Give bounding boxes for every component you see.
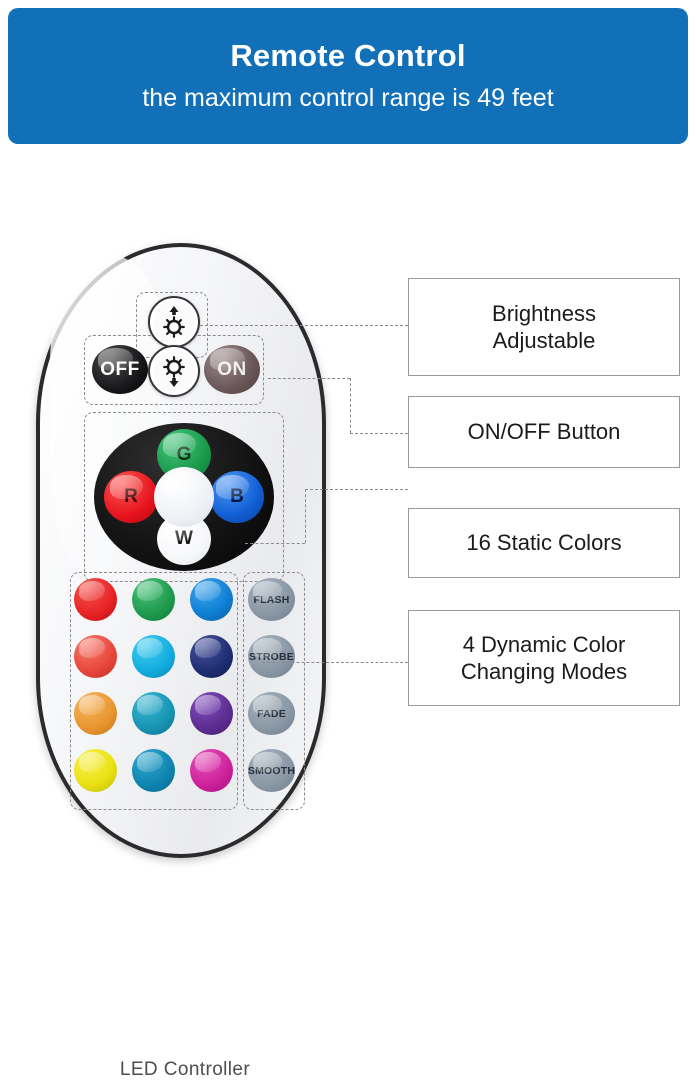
connector-onoff-h1 [268,378,350,379]
callout-static-line1: 16 Static Colors [466,529,621,557]
brightness-down-button[interactable] [148,345,200,397]
blue-button[interactable]: B [210,471,264,523]
connector-static-h2 [305,489,408,490]
off-button-label: OFF [100,359,140,381]
strobe-mode-label: STROBE [249,651,294,663]
smooth-mode-button[interactable]: SMOOTH [248,749,295,792]
color-button-blue[interactable] [190,578,233,621]
connector-dynamic [262,662,408,663]
color-button-purple[interactable] [190,692,233,735]
callout-dynamic-line1: 4 Dynamic Color [461,631,627,659]
white-button-label: W [175,528,193,550]
color-button-dark-cyan[interactable] [132,749,175,792]
sun-up-icon [157,303,191,341]
red-button[interactable]: R [104,471,158,523]
smooth-mode-label: SMOOTH [248,765,295,777]
rgb-color-wheel: G R B W [94,423,274,571]
connector-brightness [200,325,408,326]
color-button-magenta[interactable] [190,749,233,792]
callout-onoff-line1: ON/OFF Button [468,418,621,446]
center-power-button[interactable] [154,467,214,527]
callout-brightness: Brightness Adjustable [408,278,680,376]
color-button-green[interactable] [132,578,175,621]
color-button-red[interactable] [74,578,117,621]
color-button-cyan[interactable] [132,635,175,678]
connector-static-v [305,489,306,543]
callout-static-colors: 16 Static Colors [408,508,680,578]
blue-button-label: B [230,486,244,508]
color-button-navy[interactable] [190,635,233,678]
green-button-label: G [177,444,192,466]
color-button-yellow[interactable] [74,749,117,792]
callout-brightness-line1: Brightness [492,300,596,328]
banner-title: Remote Control [230,39,465,73]
callout-dynamic-line2: Changing Modes [461,658,627,686]
fade-mode-label: FADE [257,708,286,720]
static-color-grid [74,578,234,804]
led-controller-brand-label: LED Controller [40,1059,330,1081]
connector-static-h1 [245,543,305,544]
callout-brightness-line2: Adjustable [492,327,596,355]
color-button-teal[interactable] [132,692,175,735]
flash-mode-button[interactable]: FLASH [248,578,295,621]
callout-onoff: ON/OFF Button [408,396,680,468]
brightness-up-button[interactable] [148,296,200,348]
connector-onoff-h2 [350,433,408,434]
header-banner: Remote Control the maximum control range… [8,8,688,144]
color-button-orange-red[interactable] [74,635,117,678]
sun-down-icon [157,352,191,390]
banner-subtitle: the maximum control range is 49 feet [142,85,553,113]
callout-dynamic-modes: 4 Dynamic Color Changing Modes [408,610,680,706]
off-button[interactable]: OFF [92,345,148,394]
on-button-label: ON [217,359,247,381]
fade-mode-button[interactable]: FADE [248,692,295,735]
on-button[interactable]: ON [204,345,260,394]
strobe-mode-button[interactable]: STROBE [248,635,295,678]
color-button-orange[interactable] [74,692,117,735]
remote-control-device: OFF ON G [36,243,326,858]
connector-onoff-v [350,378,351,433]
flash-mode-label: FLASH [254,594,290,606]
red-button-label: R [124,486,138,508]
